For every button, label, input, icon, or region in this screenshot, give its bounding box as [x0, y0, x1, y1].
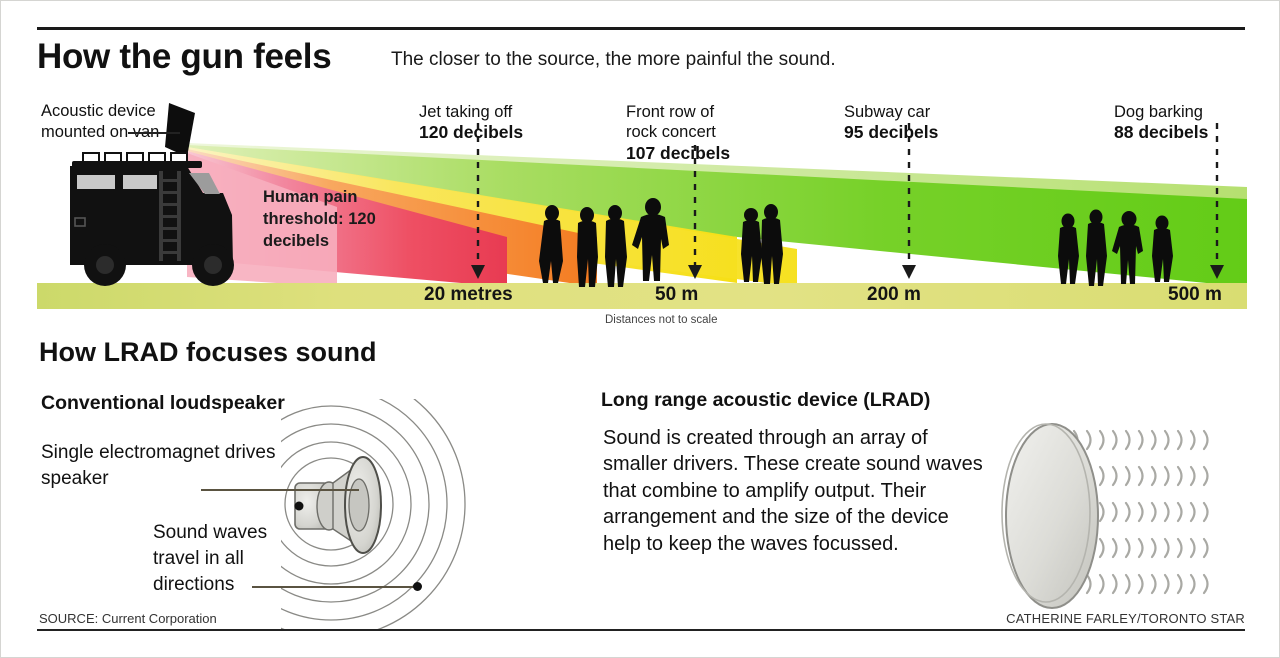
infographic-page: How the gun feels The closer to the sour…	[0, 0, 1280, 658]
lrad-svg	[986, 409, 1248, 621]
callout-jet-value: 120 decibels	[419, 122, 584, 144]
callout-subway: Subway car 95 decibels	[844, 102, 1009, 144]
acoustic-device-leader-line	[128, 132, 180, 134]
lrad-disc	[1006, 424, 1098, 608]
source-credit: SOURCE: Current Corporation	[39, 611, 217, 626]
waves-leader-dot	[413, 582, 422, 591]
magnet-leader-dot	[295, 502, 304, 511]
section-heading-lrad: How LRAD focuses sound	[39, 337, 377, 368]
page-subtitle: The closer to the source, the more painf…	[391, 49, 836, 71]
conventional-speaker-illustration	[281, 399, 541, 634]
author-credit: CATHERINE FARLEY/TORONTO STAR	[1006, 611, 1245, 626]
pain-threshold-label: Human pain threshold: 120 decibels	[263, 187, 393, 252]
callout-dog-value: 88 decibels	[1114, 122, 1279, 144]
page-title: How the gun feels	[37, 37, 331, 77]
callout-jet: Jet taking off 120 decibels	[419, 102, 584, 144]
callout-subway-value: 95 decibels	[844, 122, 1009, 144]
lrad-description: Sound is created through an array of sma…	[603, 425, 983, 557]
distances-not-to-scale-note: Distances not to scale	[605, 314, 718, 326]
label-single-electromagnet: Single electromagnet drives speaker	[41, 440, 291, 492]
ground-strip	[37, 283, 1247, 309]
callout-rock-name-line1: Front row of	[626, 102, 791, 122]
infographic-canvas: How the gun feels The closer to the sour…	[23, 17, 1259, 643]
speaker-svg	[281, 399, 541, 629]
distance-label-200m: 200 m	[867, 284, 921, 306]
top-rule	[37, 27, 1245, 30]
callout-subway-name: Subway car	[844, 102, 1009, 122]
column-title-conventional: Conventional loudspeaker	[41, 392, 285, 415]
magnet-leader-line	[201, 489, 359, 491]
callout-rock-value: 107 decibels	[626, 143, 791, 165]
acoustic-device-label: Acoustic device mounted on van	[41, 101, 201, 143]
distance-label-500m: 500 m	[1168, 284, 1222, 306]
distance-label-50m: 50 m	[655, 284, 698, 306]
lrad-illustration	[986, 409, 1248, 626]
column-title-lrad: Long range acoustic device (LRAD)	[601, 389, 930, 412]
distance-label-20m: 20 metres	[424, 284, 513, 306]
callout-dog-name: Dog barking	[1114, 102, 1279, 122]
callout-rock: Front row of rock concert 107 decibels	[626, 102, 791, 165]
waves-leader-line	[252, 586, 416, 588]
callout-rock-name-line2: rock concert	[626, 122, 791, 142]
callout-jet-name: Jet taking off	[419, 102, 584, 122]
callout-dog: Dog barking 88 decibels	[1114, 102, 1279, 144]
bottom-rule	[37, 629, 1245, 631]
